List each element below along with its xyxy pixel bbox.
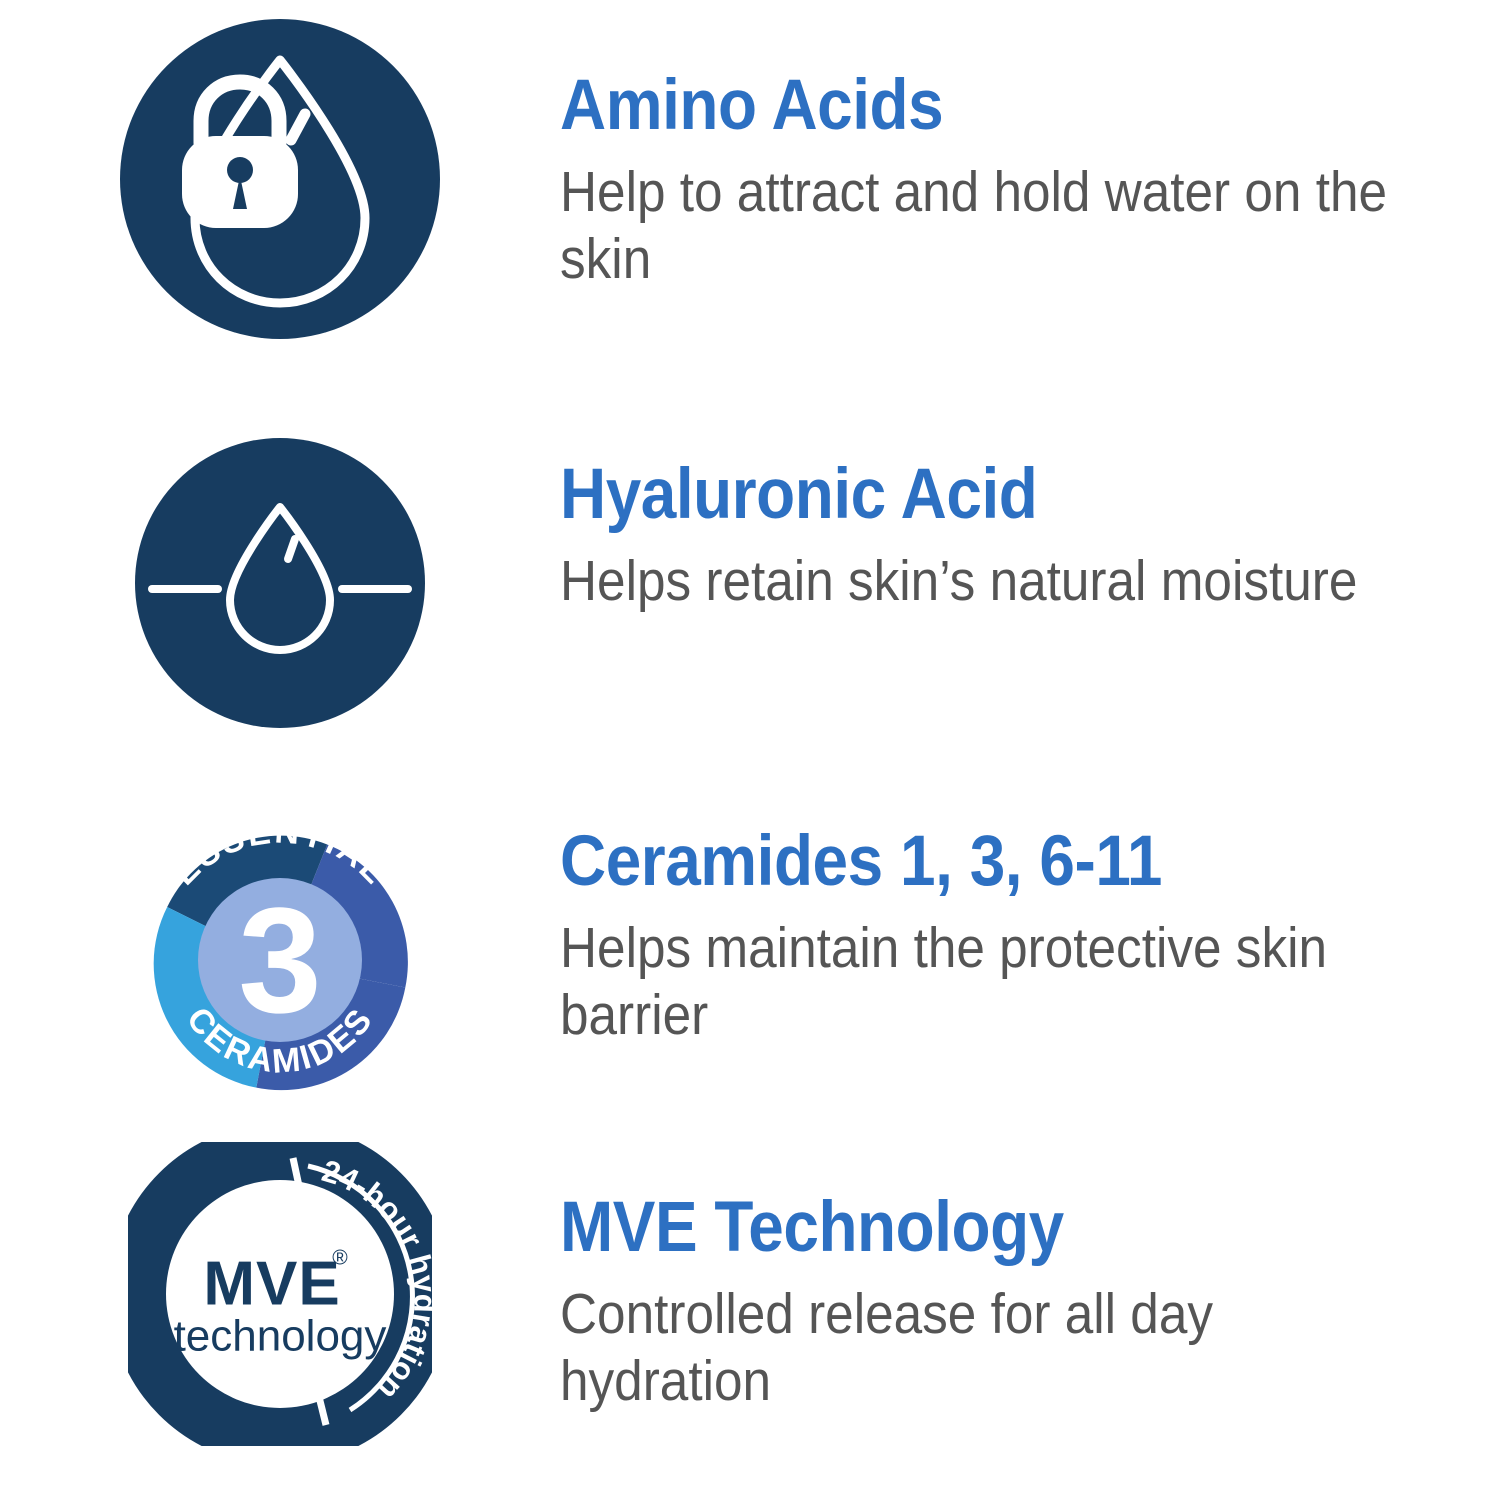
mve-technology-ring-icon: 24-hour hydration MVE ® technology [128, 1142, 432, 1446]
feature-title-hyaluronic-acid: Hyaluronic Acid [560, 459, 1406, 530]
feature-row-ceramides: 3 ESSENTIAL CERAMIDES Ceramides 1, 3, 6-… [0, 808, 1500, 1118]
ingredient-benefits-infographic: Amino Acids Help to attract and hold wat… [0, 0, 1500, 1500]
ceramides-count-number: 3 [238, 876, 321, 1044]
mve-wordmark: MVE [203, 1250, 340, 1319]
feature-description-hyaluronic-acid: Helps retain skin’s natural moisture [560, 548, 1406, 615]
feature-row-hyaluronic-acid: Hyaluronic Acid Helps retain skin’s natu… [0, 437, 1500, 729]
feature-title-ceramides: Ceramides 1, 3, 6-11 [560, 826, 1406, 897]
text-cell-amino-acids: Amino Acids Help to attract and hold wat… [560, 18, 1500, 292]
feature-description-amino-acids: Help to attract and hold water on the sk… [560, 159, 1406, 292]
locked-water-drop-icon [119, 18, 441, 340]
text-cell-mve-technology: MVE Technology Controlled release for al… [560, 1142, 1500, 1414]
mve-registered-mark: ® [332, 1247, 348, 1270]
text-cell-ceramides: Ceramides 1, 3, 6-11 Helps maintain the … [560, 808, 1500, 1048]
feature-description-ceramides: Helps maintain the protective skin barri… [560, 915, 1406, 1048]
icon-cell-mve-technology: 24-hour hydration MVE ® technology [0, 1142, 560, 1446]
text-cell-hyaluronic-acid: Hyaluronic Acid Helps retain skin’s natu… [560, 437, 1500, 615]
feature-title-amino-acids: Amino Acids [560, 70, 1406, 141]
water-drop-level-icon [134, 437, 426, 729]
feature-row-amino-acids: Amino Acids Help to attract and hold wat… [0, 18, 1500, 340]
icon-cell-amino-acids [0, 18, 560, 340]
feature-row-mve-technology: 24-hour hydration MVE ® technology MVE T… [0, 1142, 1500, 1446]
mve-sub-label: technology [174, 1312, 387, 1361]
icon-cell-ceramides: 3 ESSENTIAL CERAMIDES [0, 808, 560, 1118]
icon-cell-hyaluronic-acid [0, 437, 560, 729]
feature-title-mve-technology: MVE Technology [560, 1192, 1406, 1263]
essential-ceramides-badge-icon: 3 ESSENTIAL CERAMIDES [125, 808, 435, 1118]
feature-description-mve-technology: Controlled release for all day hydration [560, 1281, 1406, 1414]
